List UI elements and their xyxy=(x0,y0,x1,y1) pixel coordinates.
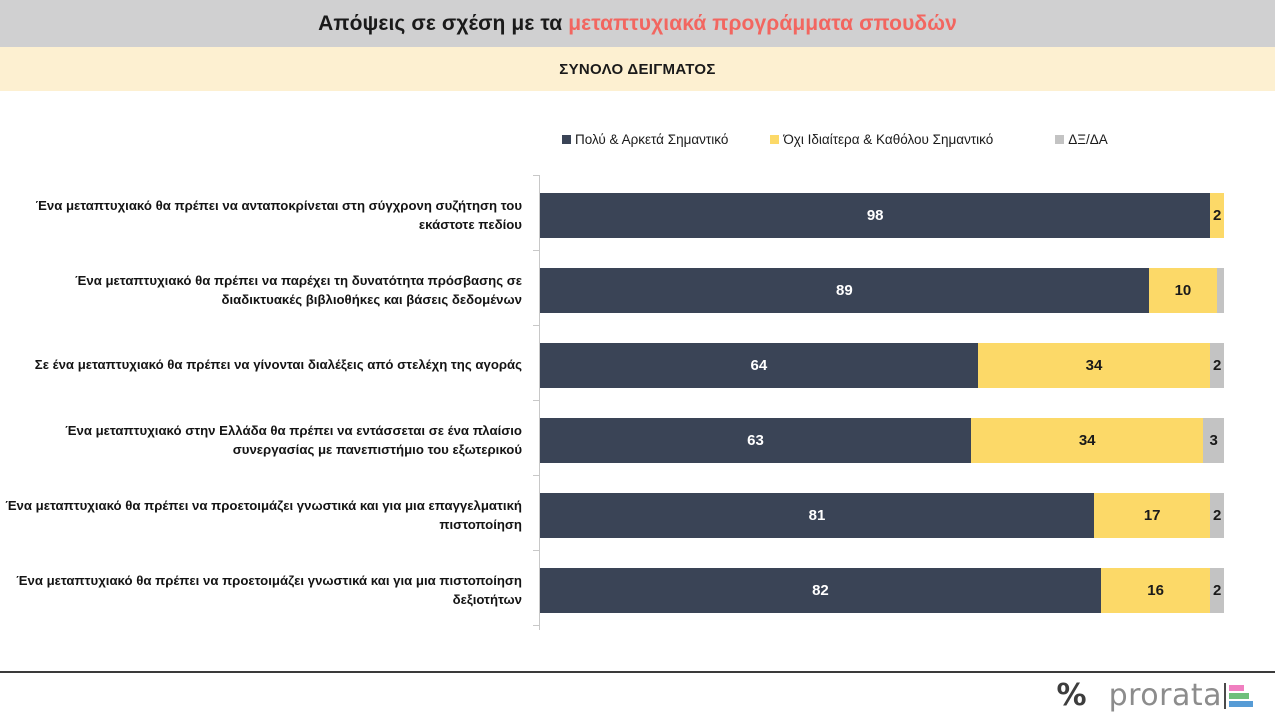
bar-value-label: 2 xyxy=(1213,582,1221,599)
bar-row-label: Ένα μεταπτυχιακό στην Ελλάδα θα πρέπει ν… xyxy=(0,422,530,458)
bar-segment[interactable]: 17 xyxy=(1094,493,1210,538)
bar-row: Σε ένα μεταπτυχιακό θα πρέπει να γίνοντα… xyxy=(0,328,1275,403)
bar-value-label: 3 xyxy=(1210,432,1218,449)
footer: % prorata xyxy=(0,673,1275,715)
legend-item-dk-na[interactable]: ΔΞ/ΔΑ xyxy=(1055,132,1108,147)
bar-segment[interactable]: 2 xyxy=(1210,343,1224,388)
title-band: Απόψεις σε σχέση με τα μεταπτυχιακά προγ… xyxy=(0,0,1275,47)
bar-row-label: Ένα μεταπτυχιακό θα πρέπει να παρέχει τη… xyxy=(0,272,530,308)
legend-item-label: Πολύ & Αρκετά Σημαντικό xyxy=(575,132,728,147)
page-title-main: Απόψεις σε σχέση με τα xyxy=(318,12,568,35)
bar-segment[interactable]: 98 xyxy=(540,193,1210,238)
bar-row: Ένα μεταπτυχιακό θα πρέπει να προετοιμάζ… xyxy=(0,553,1275,628)
subtitle-band: ΣΥΝΟΛΟ ΔΕΙΓΜΑΤΟΣ xyxy=(0,47,1275,91)
logo-bars-icon xyxy=(1229,683,1253,709)
stacked-bar: 82162 xyxy=(540,568,1224,613)
bar-segment[interactable] xyxy=(1217,268,1224,313)
bar-row: Ένα μεταπτυχιακό θα πρέπει να παρέχει τη… xyxy=(0,253,1275,328)
chart-plot-area: Ένα μεταπτυχιακό θα πρέπει να ανταποκρίν… xyxy=(0,165,1275,635)
bar-value-label: 63 xyxy=(747,432,764,449)
bar-value-label: 34 xyxy=(1086,357,1103,374)
sample-scope-label: ΣΥΝΟΛΟ ΔΕΙΓΜΑΤΟΣ xyxy=(559,61,715,78)
bar-row: Ένα μεταπτυχιακό θα πρέπει να προετοιμάζ… xyxy=(0,478,1275,553)
bar-value-label: 2 xyxy=(1213,507,1221,524)
bar-segment[interactable]: 81 xyxy=(540,493,1094,538)
legend-swatch-icon xyxy=(770,135,779,144)
bar-value-label: 98 xyxy=(867,207,884,224)
bar-segment[interactable]: 82 xyxy=(540,568,1101,613)
legend-swatch-icon xyxy=(1055,135,1064,144)
bar-segment[interactable]: 2 xyxy=(1210,193,1224,238)
logo-wordmark: prorata xyxy=(1109,681,1222,711)
bar-segment[interactable]: 2 xyxy=(1210,493,1224,538)
bar-segment[interactable]: 2 xyxy=(1210,568,1224,613)
stacked-bar: 64342 xyxy=(540,343,1224,388)
bar-segment[interactable]: 16 xyxy=(1101,568,1210,613)
chart-legend: Πολύ & Αρκετά Σημαντικό Όχι Ιδιαίτερα & … xyxy=(540,128,1240,150)
bar-value-label: 82 xyxy=(812,582,829,599)
legend-item-very-important[interactable]: Πολύ & Αρκετά Σημαντικό xyxy=(562,132,728,147)
stacked-bar: 81172 xyxy=(540,493,1224,538)
bar-row-label: Σε ένα μεταπτυχιακό θα πρέπει να γίνοντα… xyxy=(0,356,530,374)
legend-swatch-icon xyxy=(562,135,571,144)
bar-value-label: 10 xyxy=(1175,282,1192,299)
page-title: Απόψεις σε σχέση με τα μεταπτυχιακά προγ… xyxy=(318,12,957,36)
logo-divider-icon xyxy=(1224,683,1226,709)
percent-icon: % xyxy=(1057,681,1087,711)
bar-segment[interactable]: 34 xyxy=(978,343,1211,388)
bar-row-label: Ένα μεταπτυχιακό θα πρέπει να προετοιμάζ… xyxy=(0,572,530,608)
stacked-bar: 982 xyxy=(540,193,1224,238)
bar-row: Ένα μεταπτυχιακό στην Ελλάδα θα πρέπει ν… xyxy=(0,403,1275,478)
page-title-accent: μεταπτυχιακά προγράμματα σπουδών xyxy=(568,12,957,35)
bar-value-label: 81 xyxy=(809,507,826,524)
bar-value-label: 17 xyxy=(1144,507,1161,524)
bar-segment[interactable]: 3 xyxy=(1203,418,1224,463)
stacked-bar: 8910 xyxy=(540,268,1224,313)
bar-row-label: Ένα μεταπτυχιακό θα πρέπει να προετοιμάζ… xyxy=(0,497,530,533)
bar-segment[interactable]: 64 xyxy=(540,343,978,388)
bar-value-label: 89 xyxy=(836,282,853,299)
prorata-logo[interactable]: % prorata xyxy=(1057,681,1254,711)
bar-segment[interactable]: 89 xyxy=(540,268,1149,313)
bar-segment[interactable]: 63 xyxy=(540,418,971,463)
legend-item-label: Όχι Ιδιαίτερα & Καθόλου Σημαντικό xyxy=(783,132,993,147)
bar-value-label: 2 xyxy=(1213,357,1221,374)
legend-item-not-important[interactable]: Όχι Ιδιαίτερα & Καθόλου Σημαντικό xyxy=(770,132,993,147)
bar-segment[interactable]: 10 xyxy=(1149,268,1217,313)
bar-value-label: 34 xyxy=(1079,432,1096,449)
stacked-bar: 63343 xyxy=(540,418,1224,463)
bar-value-label: 2 xyxy=(1213,207,1221,224)
bar-row-label: Ένα μεταπτυχιακό θα πρέπει να ανταποκρίν… xyxy=(0,197,530,233)
bar-row: Ένα μεταπτυχιακό θα πρέπει να ανταποκρίν… xyxy=(0,178,1275,253)
bar-segment[interactable]: 34 xyxy=(971,418,1204,463)
legend-item-label: ΔΞ/ΔΑ xyxy=(1068,132,1108,147)
bar-value-label: 16 xyxy=(1147,582,1164,599)
bar-value-label: 64 xyxy=(751,357,768,374)
